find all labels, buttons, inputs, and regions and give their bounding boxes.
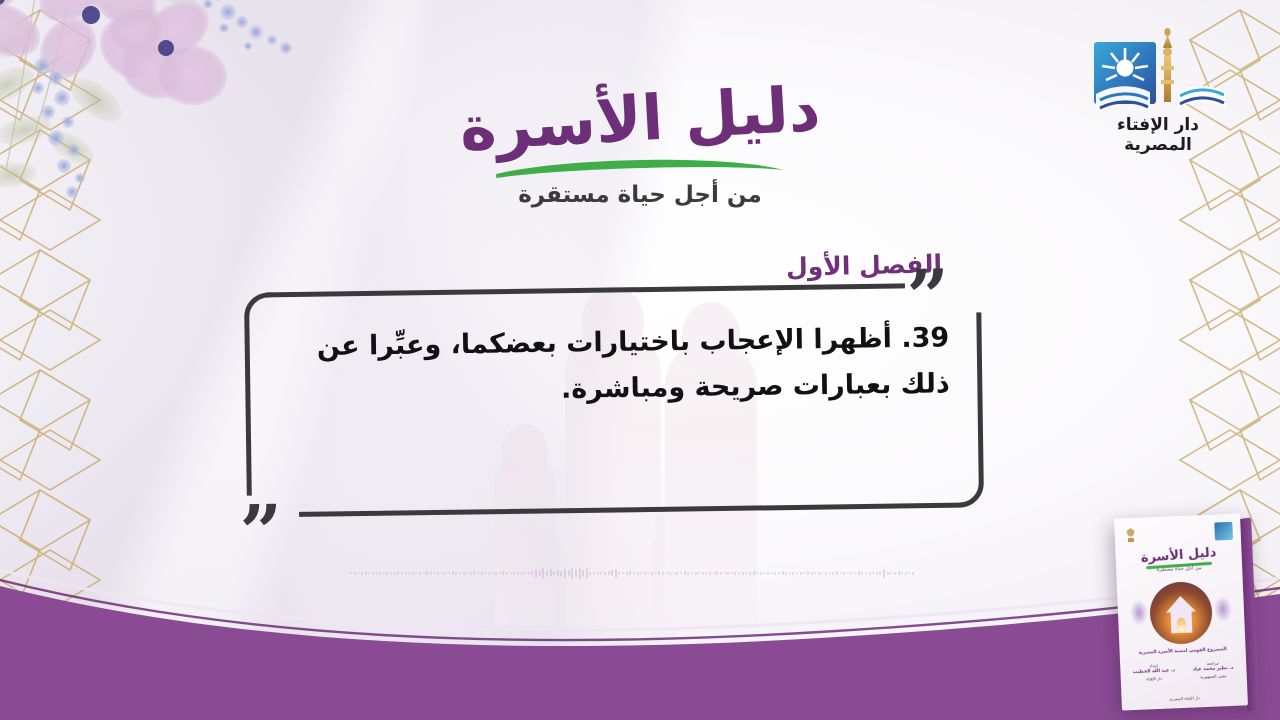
quote-text: 39. أظهرا الإعجاب باختيارات بعضكما، وعبِ…	[287, 315, 950, 417]
book-cover-mockup: دليل الأسرة من أجل حياة مستقرة المشروع ا…	[1114, 513, 1248, 710]
bottom-purple-band	[0, 560, 1280, 720]
quote-close-icon: ”	[240, 511, 283, 557]
title-block: دليل الأسرة من أجل حياة مستقرة	[0, 88, 1280, 208]
house-door-icon	[1177, 618, 1187, 633]
book-house-illustration	[1149, 581, 1214, 646]
book-author-left-role: مراجعة	[1207, 660, 1219, 665]
book-author-left: مراجعة د. نظير محمد عياد مفتي الجمهورية	[1185, 660, 1240, 681]
book-footer: دار الإفتاء المصرية	[1122, 693, 1248, 704]
quote-card: ” ” 39. أظهرا الإعجاب باختيارات بعضكما، …	[242, 281, 985, 519]
book-leaf-right-icon	[1213, 596, 1232, 623]
book-author-right: إعداد د. عبد الله الخطيب دار الإفتاء	[1126, 662, 1181, 683]
book-author-right-sub: دار الإفتاء	[1146, 676, 1162, 682]
book-author-left-sub: مفتي الجمهورية	[1200, 673, 1226, 679]
egypt-eagle-emblem-icon	[1122, 526, 1139, 547]
slide-canvas: دار الإفتاء المصرية دليل الأسرة من أجل ح…	[0, 0, 1280, 720]
book-caption: المشروع القومي لتنمية الأسرة المصرية	[1120, 646, 1246, 656]
book-author-right-role: إعداد	[1149, 663, 1158, 668]
book-leaf-left-icon	[1129, 599, 1148, 626]
page-subtitle: من أجل حياة مستقرة	[0, 182, 1280, 208]
book-authors: مراجعة د. نظير محمد عياد مفتي الجمهورية …	[1126, 660, 1241, 684]
dar-al-ifta-mini-logo-icon	[1214, 522, 1233, 541]
book-front-cover: دليل الأسرة من أجل حياة مستقرة المشروع ا…	[1114, 513, 1248, 710]
book-cover-logos	[1122, 522, 1233, 547]
